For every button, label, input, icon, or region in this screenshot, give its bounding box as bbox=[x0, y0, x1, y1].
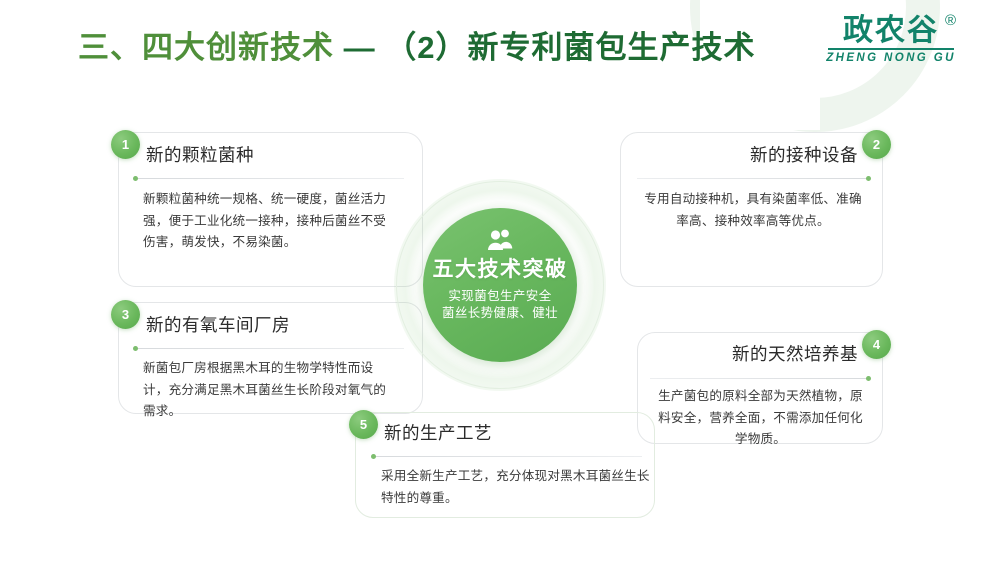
hub-circle[interactable]: 五大技术突破 实现菌包生产安全 菌丝长势健康、健壮 bbox=[423, 208, 577, 362]
card-2-body: 专用自动接种机，具有染菌率低、准确率高、接种效率高等优点。 bbox=[640, 189, 866, 232]
card-3-divider bbox=[136, 348, 404, 349]
card-1-divider bbox=[136, 178, 404, 179]
card-2-divider-dot-icon bbox=[866, 176, 871, 181]
card-4-title: 新的天然培养基 bbox=[732, 341, 858, 366]
card-3-title: 新的有氧车间厂房 bbox=[146, 312, 290, 337]
slide-canvas: 三、四大创新技术 — （2）新专利菌包生产技术 政农谷® ZHENG NONG … bbox=[0, 0, 1000, 563]
logo-pinyin: ZHENG NONG GU bbox=[808, 53, 974, 65]
card-2-title: 新的接种设备 bbox=[750, 142, 858, 167]
card-5-number-badge: 5 bbox=[349, 410, 378, 439]
card-4-divider-dot-icon bbox=[866, 376, 871, 381]
page-title: 三、四大创新技术 — （2）新专利菌包生产技术 bbox=[78, 22, 756, 67]
card-2-number-badge: 2 bbox=[862, 130, 891, 159]
logo-wordmark: 政农谷® bbox=[843, 16, 939, 46]
card-5-body: 采用全新生产工艺，充分体现对黑木耳菌丝生长特性的尊重。 bbox=[381, 466, 653, 509]
card-1-title: 新的颗粒菌种 bbox=[146, 142, 254, 167]
brand-logo: 政农谷® ZHENG NONG GU bbox=[808, 16, 974, 65]
logo-main-text: 政农谷 bbox=[843, 14, 939, 47]
card-5-divider-dot-icon bbox=[371, 454, 376, 459]
hub-subtitle: 实现菌包生产安全 菌丝长势健康、健壮 bbox=[442, 288, 558, 322]
card-3-number-badge: 3 bbox=[111, 300, 140, 329]
card-4-number-badge: 4 bbox=[862, 330, 891, 359]
card-4-divider bbox=[650, 378, 869, 379]
page-title-part1: 三、四大创新技术 bbox=[78, 30, 344, 65]
slide-header: 三、四大创新技术 — （2）新专利菌包生产技术 政农谷® ZHENG NONG … bbox=[0, 0, 1000, 92]
card-5-divider bbox=[374, 456, 642, 457]
users-icon bbox=[486, 228, 514, 252]
card-5-title: 新的生产工艺 bbox=[384, 420, 492, 445]
hub-subtitle-line-1: 实现菌包生产安全 bbox=[442, 288, 558, 305]
hub-subtitle-line-2: 菌丝长势健康、健壮 bbox=[442, 305, 558, 322]
page-title-dash: — bbox=[344, 30, 386, 65]
registered-trademark-icon: ® bbox=[945, 13, 958, 28]
card-1-body: 新颗粒菌种统一规格、统一硬度，菌丝活力强，便于工业化统一接种，接种后菌丝不受伤害… bbox=[143, 189, 398, 254]
hub-title: 五大技术突破 bbox=[433, 258, 568, 281]
logo-divider bbox=[828, 48, 954, 50]
card-2-divider bbox=[637, 178, 869, 179]
card-1-number-badge: 1 bbox=[111, 130, 140, 159]
card-4-body: 生产菌包的原料全部为天然植物，原料安全，营养全面，不需添加任何化学物质。 bbox=[652, 386, 869, 451]
card-1-divider-dot-icon bbox=[133, 176, 138, 181]
page-title-part2: （2）新专利菌包生产技术 bbox=[385, 30, 755, 65]
card-3-divider-dot-icon bbox=[133, 346, 138, 351]
